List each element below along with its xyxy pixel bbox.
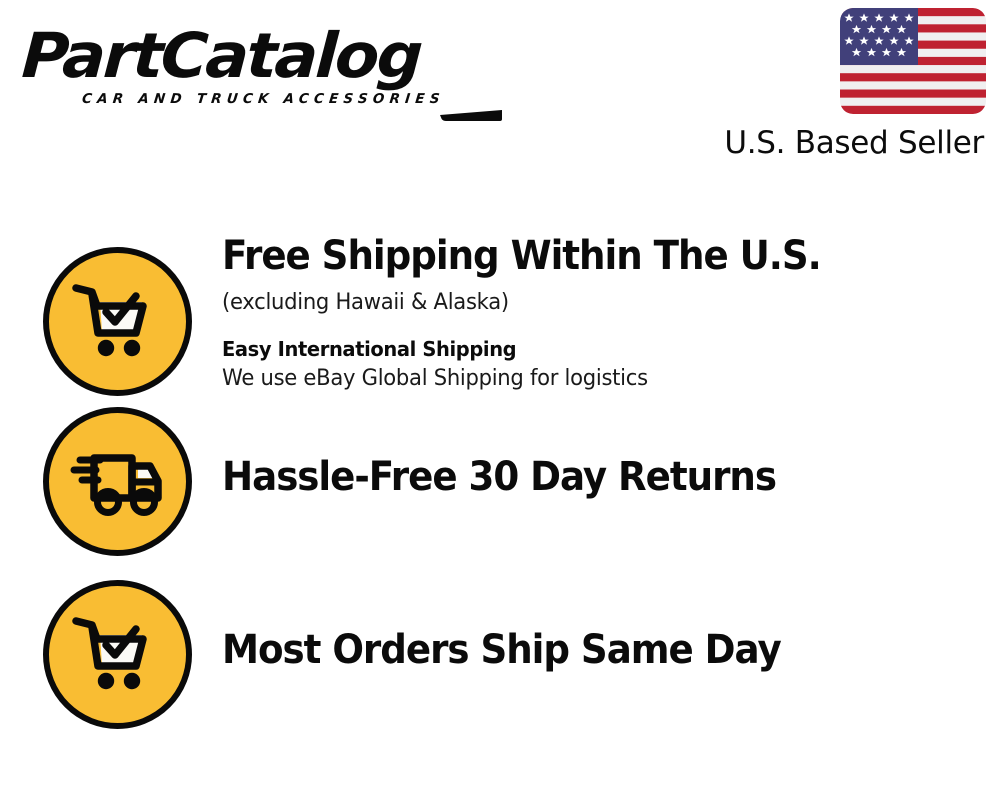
brand-tagline: CAR AND TRUCK ACCESSORIES [81, 92, 445, 107]
feature-title: Free Shipping Within The U.S. [222, 232, 821, 280]
feature-title: Hassle-Free 30 Day Returns [222, 453, 776, 501]
brand-logo: PartCatalog CAR AND TRUCK ACCESSORIES [22, 22, 492, 117]
feature-returns-text: Hassle-Free 30 Day Returns [222, 453, 818, 501]
brand-swoosh-icon [440, 110, 502, 121]
brand-name: PartCatalog [20, 22, 513, 90]
shopping-cart-check-icon [43, 247, 192, 396]
feature-subnote: We use eBay Global Shipping for logistic… [222, 364, 840, 394]
feature-free-shipping-text: Free Shipping Within The U.S. (excluding… [222, 232, 866, 394]
shopping-cart-check-icon [43, 580, 192, 729]
feature-note: (excluding Hawaii & Alaska) [222, 288, 840, 318]
us-based-seller-badge: U.S. Based Seller [686, 8, 986, 163]
us-flag-icon [840, 8, 986, 114]
delivery-truck-icon [43, 407, 192, 556]
feature-same-day-text: Most Orders Ship Same Day [222, 626, 823, 674]
feature-title: Most Orders Ship Same Day [222, 626, 781, 674]
feature-subtitle: Easy International Shipping [222, 334, 834, 364]
promo-banner: PartCatalog CAR AND TRUCK ACCESSORIES [0, 0, 1000, 800]
us-based-seller-label: U.S. Based Seller [686, 123, 986, 163]
banner-header: PartCatalog CAR AND TRUCK ACCESSORIES [0, 0, 1000, 175]
